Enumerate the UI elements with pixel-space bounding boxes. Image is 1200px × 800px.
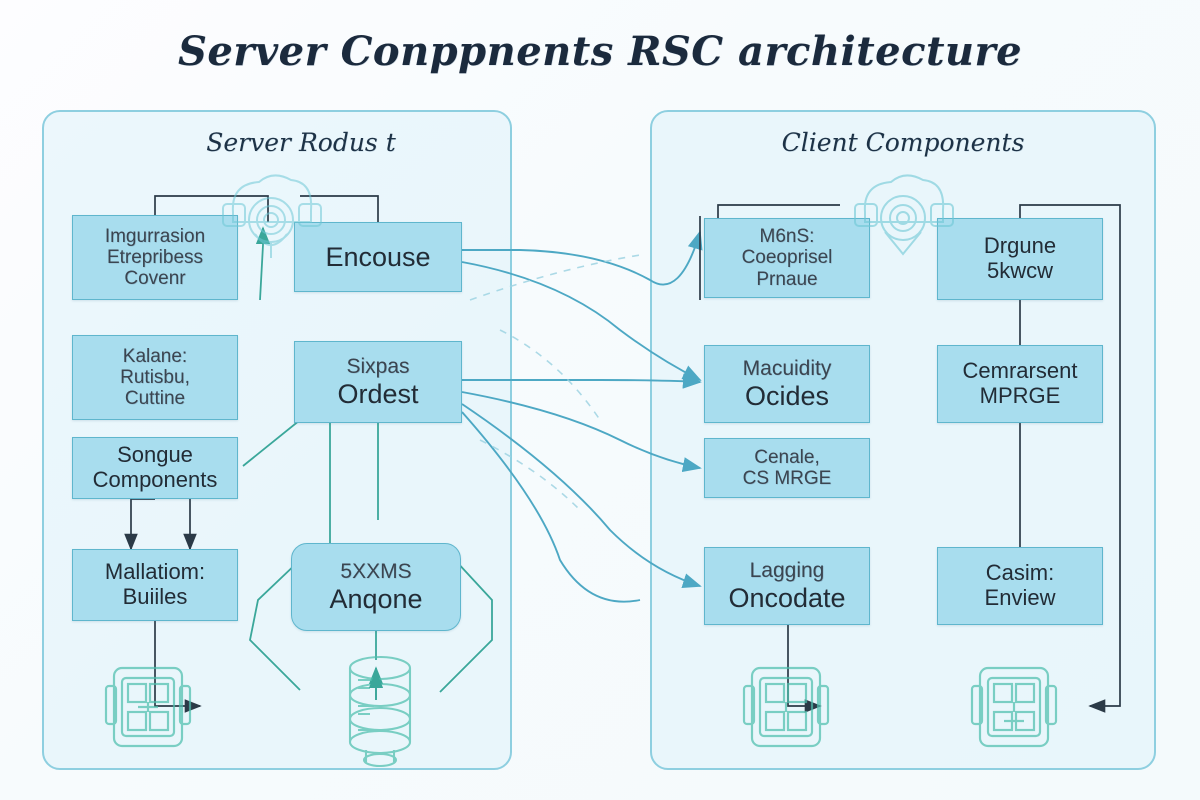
- node-line: Ocides: [745, 381, 829, 411]
- node-line: Anqone: [329, 584, 422, 614]
- node-line: Casim:: [986, 561, 1054, 586]
- node-client-right-2[interactable]: Cemrarsent MPRGE: [937, 345, 1103, 423]
- node-line: Components: [93, 468, 218, 493]
- node-line: 5kwcw: [987, 259, 1053, 284]
- node-server-left-4[interactable]: Mallatiom: Buiiles: [72, 549, 238, 621]
- node-client-right-3[interactable]: Casim: Enview: [937, 547, 1103, 625]
- node-line: Oncodate: [728, 583, 845, 613]
- node-line: MPRGE: [980, 384, 1061, 409]
- node-line: Kalane:: [123, 346, 187, 367]
- panel-client-title: Client Components: [652, 128, 1154, 157]
- page-title: Server Conppnents RSC architecture: [0, 28, 1200, 75]
- node-line: Covenr: [124, 268, 185, 289]
- node-line: Ordest: [337, 379, 418, 409]
- node-line: Cuttine: [125, 388, 185, 409]
- node-line: Mallatiom:: [105, 560, 205, 585]
- node-server-left-2[interactable]: Kalane: Rutisbu, Cuttine: [72, 335, 238, 420]
- node-line: CS MRGE: [743, 468, 832, 489]
- node-server-mid-1[interactable]: Encouse: [294, 222, 462, 292]
- node-line: Imgurrasion: [105, 226, 205, 247]
- node-line: Cemrarsent: [963, 359, 1078, 384]
- node-line: Buiiles: [123, 585, 188, 610]
- node-client-left-4[interactable]: Lagging Oncodate: [704, 547, 870, 625]
- diagram-canvas: Server Conppnents RSC architecture Serve…: [0, 0, 1200, 800]
- node-line: M6nS:: [760, 226, 815, 247]
- node-line: Etrepribess: [107, 247, 203, 268]
- panel-server-title: Server Rodus t: [44, 128, 510, 157]
- node-server-mid-3[interactable]: 5XXMS Anqone: [291, 543, 461, 631]
- node-line: Lagging: [750, 559, 825, 583]
- node-line: Coeoprisel: [742, 247, 833, 268]
- node-client-left-2[interactable]: Macuidity Ocides: [704, 345, 870, 423]
- node-line: Drgune: [984, 234, 1056, 259]
- node-server-left-1[interactable]: Imgurrasion Etrepribess Covenr: [72, 215, 238, 300]
- node-line: Songue: [117, 443, 193, 468]
- node-line: Encouse: [325, 242, 430, 272]
- node-line: Rutisbu,: [120, 367, 190, 388]
- node-server-left-3[interactable]: Songue Components: [72, 437, 238, 499]
- node-line: Prnaue: [756, 269, 817, 290]
- node-client-left-3[interactable]: Cenale, CS MRGE: [704, 438, 870, 498]
- node-client-left-1[interactable]: M6nS: Coeoprisel Prnaue: [704, 218, 870, 298]
- node-line: Enview: [985, 586, 1056, 611]
- node-line: 5XXMS: [340, 560, 411, 584]
- node-line: Sixpas: [346, 355, 409, 379]
- node-server-mid-2[interactable]: Sixpas Ordest: [294, 341, 462, 423]
- node-client-right-1[interactable]: Drgune 5kwcw: [937, 218, 1103, 300]
- node-line: Macuidity: [743, 357, 832, 381]
- node-line: Cenale,: [754, 447, 820, 468]
